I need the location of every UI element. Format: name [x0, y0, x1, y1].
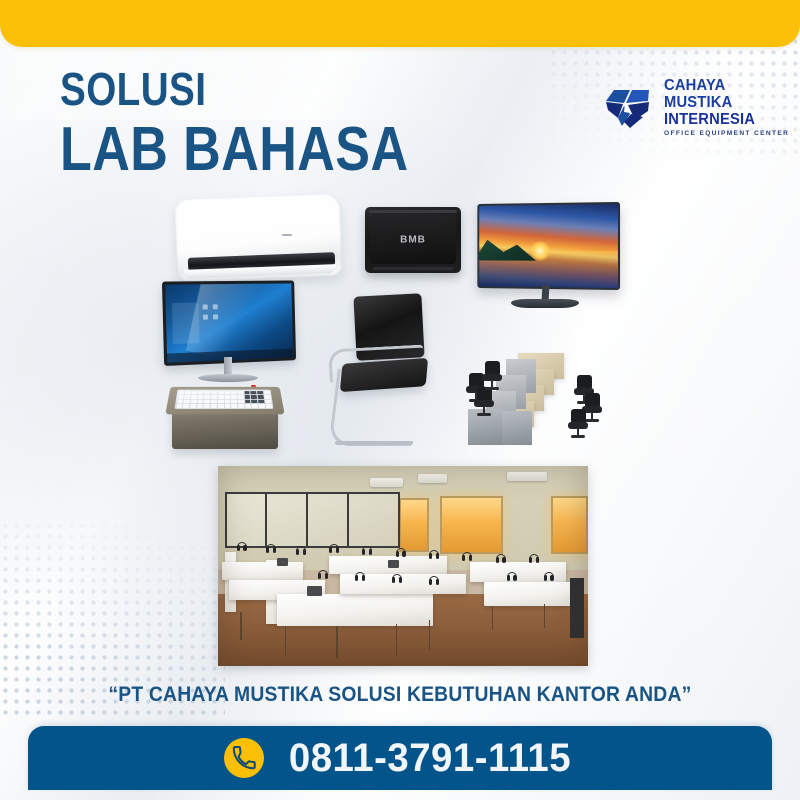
classroom-photo [218, 466, 588, 666]
company-logo: CAHAYA MUSTIKA INTERNESIA OFFICE EQUIPME… [604, 78, 789, 138]
all-in-one-pc-image [164, 281, 292, 387]
title-line-1: SOLUSI [60, 66, 413, 112]
page-title: SOLUSI LAB BAHASA [60, 66, 480, 181]
top-yellow-banner [0, 0, 800, 47]
diamond-gem-icon [604, 84, 656, 132]
television-image [475, 203, 615, 315]
product-collage: BMB [150, 185, 670, 475]
phone-number[interactable]: 0811-3791-1115 [288, 738, 570, 778]
logo-line-3: INTERNESIA [664, 112, 783, 128]
contact-bar: 0811-3791-1115 [28, 726, 772, 790]
logo-tagline: OFFICE EQUIPMENT CENTER [664, 131, 789, 138]
lab-booths-image [462, 353, 632, 457]
speaker-brand-label: BMB [365, 235, 461, 246]
control-console-image [168, 381, 286, 457]
tagline-text: “PT CAHAYA MUSTIKA SOLUSI KEBUTUHAN KANT… [108, 682, 691, 707]
poster-canvas: SOLUSI LAB BAHASA CAHAYA MUSTIKA INTERNE… [0, 0, 800, 800]
phone-handset-icon [224, 738, 264, 778]
office-chair-image [315, 295, 445, 455]
title-line-2: LAB BAHASA [60, 119, 413, 181]
logo-line-1: CAHAYA [664, 78, 783, 94]
speaker-image: BMB [365, 207, 461, 273]
company-tagline: “PT CAHAYA MUSTIKA SOLUSI KEBUTUHAN KANT… [0, 682, 800, 707]
logo-line-2: MUSTIKA [664, 95, 783, 111]
air-conditioner-image [176, 197, 341, 279]
logo-wordmark: CAHAYA MUSTIKA INTERNESIA OFFICE EQUIPME… [664, 78, 789, 138]
